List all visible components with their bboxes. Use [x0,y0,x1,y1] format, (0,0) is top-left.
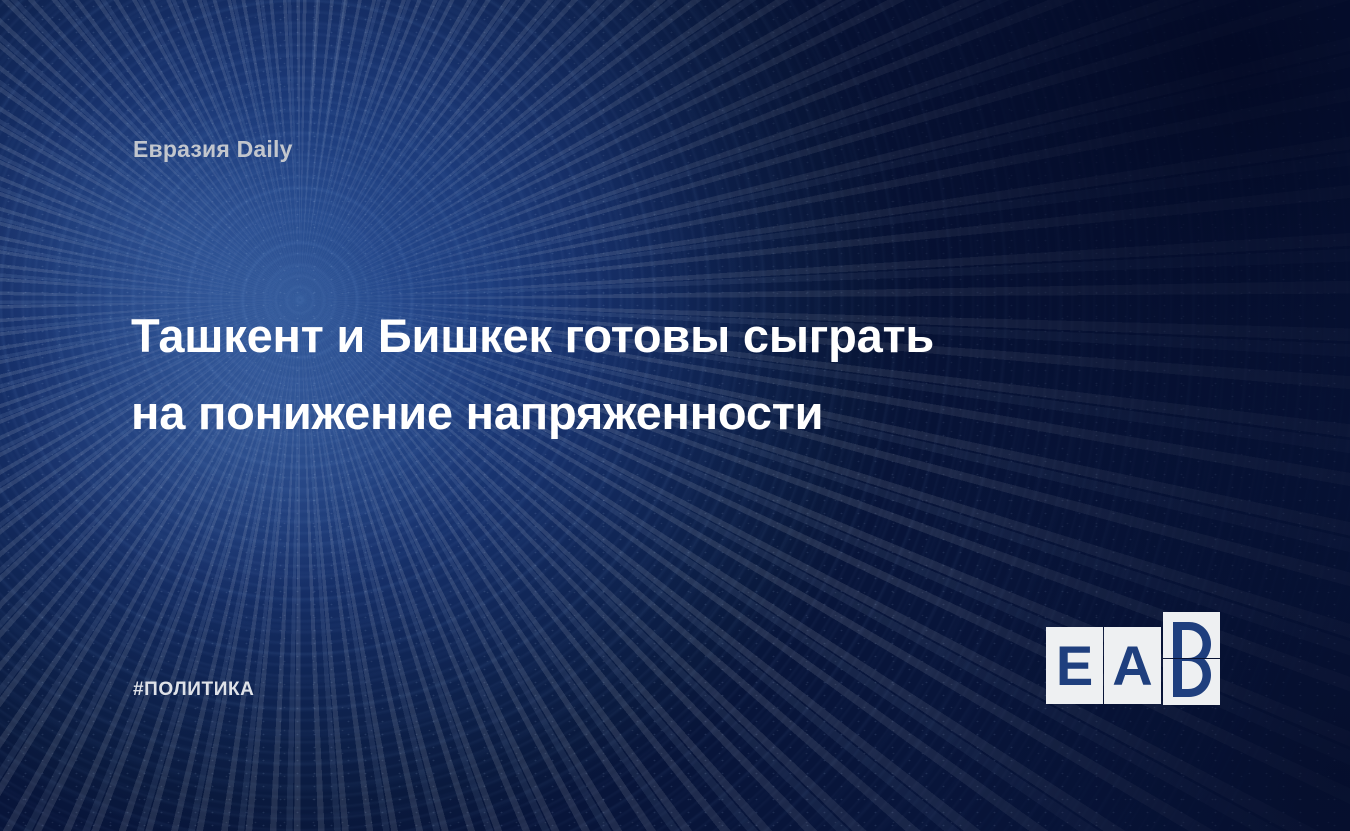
logo-tile-d-top [1163,612,1220,658]
page-title: Ташкент и Бишкек готовы сыграть на пониж… [131,297,1121,451]
card-content: Евразия Daily Ташкент и Бишкек готовы сы… [0,0,1350,831]
brand-name: Евразия Daily [133,136,293,163]
category-hashtag[interactable]: #ПОЛИТИКА [133,679,255,701]
logo-tile-e: E [1046,627,1103,704]
headline-line-1: Ташкент и Бишкек готовы сыграть [131,297,1121,374]
logo-letter-e: E [1056,638,1093,694]
article-share-card: Евразия Daily Ташкент и Бишкек готовы сы… [0,0,1350,831]
logo-tile-d-bottom [1163,659,1220,705]
logo-letter-a: A [1112,638,1152,694]
logo-tile-a: A [1104,627,1161,704]
logo-d-top-icon [1173,622,1211,658]
logo-tile-d-stack [1163,612,1220,705]
logo-d-bottom-icon [1173,659,1211,697]
eadaily-logo[interactable]: E A D [1046,627,1220,705]
headline-line-2: на понижение напряженности [131,374,1121,451]
